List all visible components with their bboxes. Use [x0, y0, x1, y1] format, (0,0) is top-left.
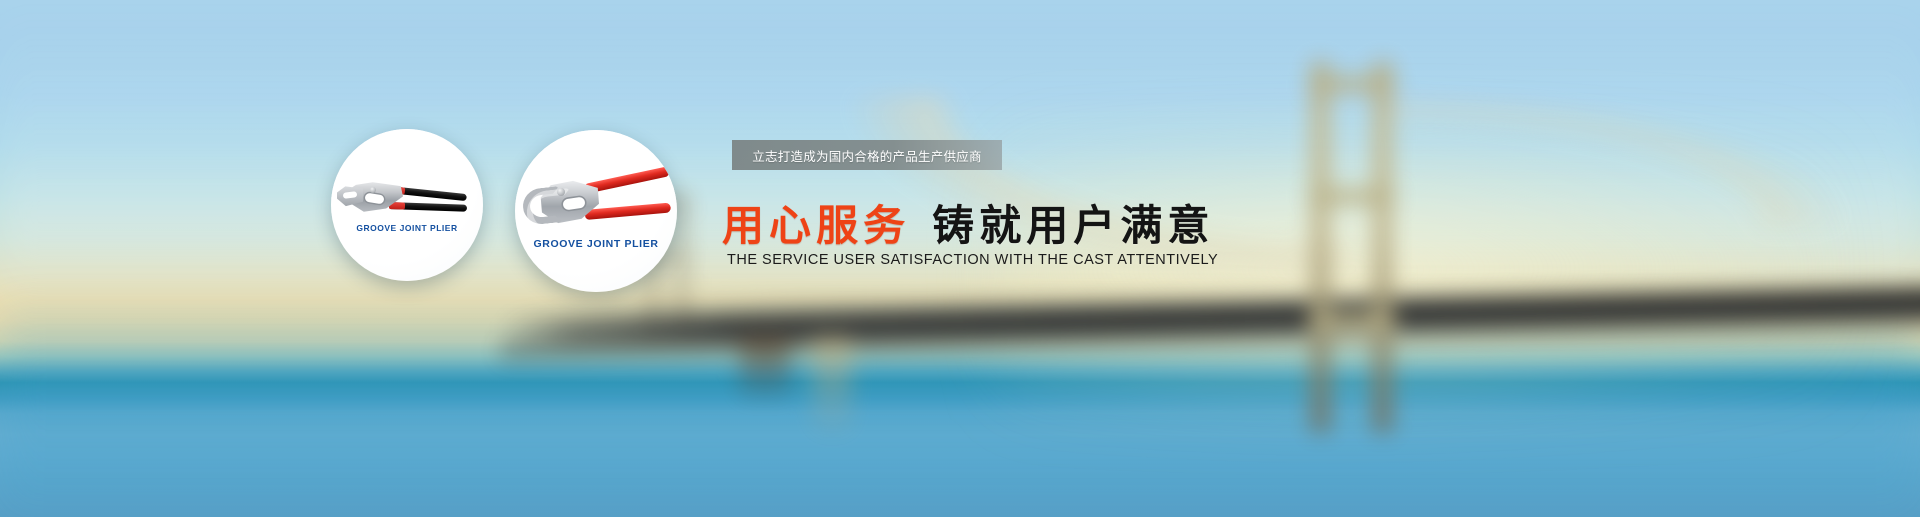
headline: 用心服务 铸就用户满意: [722, 198, 1192, 254]
bridge-pier-light: [812, 336, 852, 436]
product-circle-1[interactable]: GROOVE JOINT PLIER: [331, 129, 483, 281]
tower-crossbar-middle: [1309, 188, 1395, 205]
slogan-bar: 立志打造成为国内合格的产品生产供应商: [732, 140, 1002, 170]
suspension-cable-right: [1380, 86, 1920, 226]
plier-handle-bottom-red: [585, 203, 672, 220]
groove-joint-plier-red-icon: [523, 172, 673, 236]
hero-banner: GROOVE JOINT PLIER GROOVE JOINT PLIER 立志…: [0, 0, 1920, 517]
plier-pivot-rivet: [557, 188, 565, 196]
product-label-2: GROOVE JOINT PLIER: [515, 238, 677, 250]
headline-red-text: 用心服务: [722, 205, 910, 247]
bridge-pier-dark: [740, 336, 790, 398]
headline-black-text: 铸就用户满意: [932, 205, 1214, 247]
tower-leg-right: [1373, 62, 1392, 432]
groove-joint-plier-icon: [337, 175, 477, 221]
tower-crossbar-lower: [1309, 312, 1395, 329]
slogan-bar-text: 立志打造成为国内合格的产品生产供应商: [752, 146, 982, 165]
tower-crossbar-top: [1309, 76, 1395, 93]
english-subtitle: THE SERVICE USER SATISFACTION WITH THE C…: [727, 252, 1197, 268]
product-label-1: GROOVE JOINT PLIER: [331, 223, 483, 233]
plier-pivot-rivet: [370, 187, 376, 193]
tower-leg-left: [1311, 62, 1330, 432]
product-circle-2[interactable]: GROOVE JOINT PLIER: [515, 130, 677, 292]
main-bridge-tower: [1307, 62, 1397, 432]
